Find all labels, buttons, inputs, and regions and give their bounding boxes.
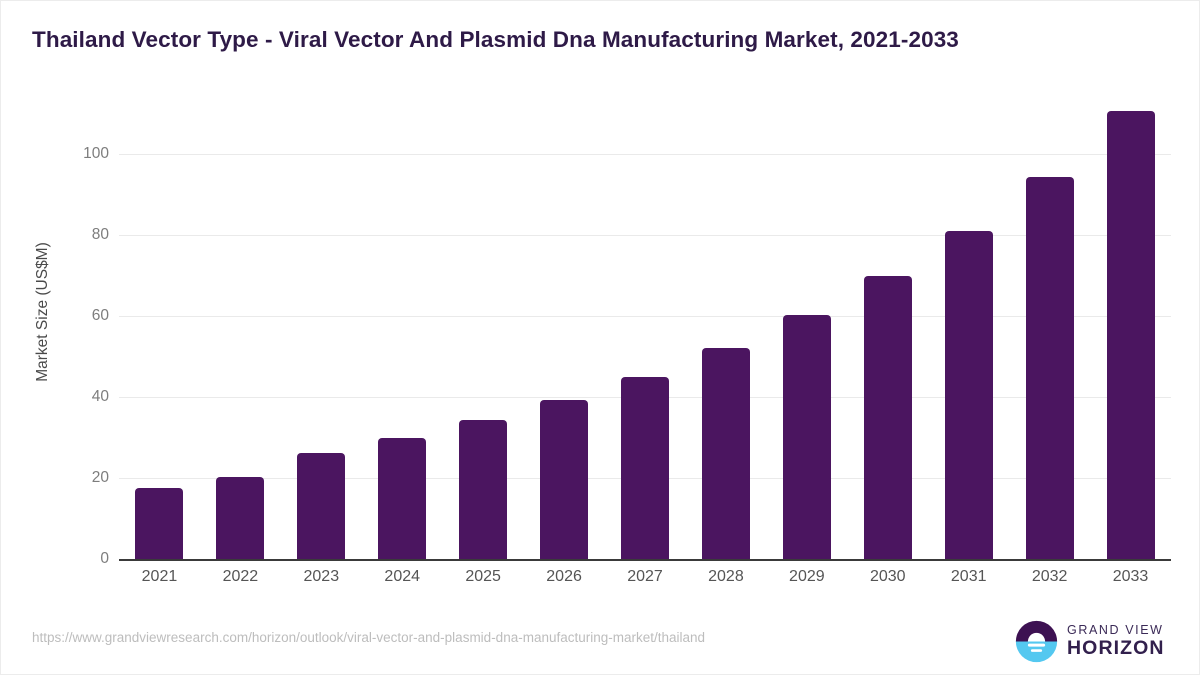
bar-2031[interactable] — [945, 231, 993, 559]
x-tick-label-2032: 2032 — [1005, 568, 1095, 586]
bar-2026[interactable] — [540, 400, 588, 559]
y-axis-title: Market Size (US$M) — [34, 197, 52, 427]
bar-2030[interactable] — [864, 276, 912, 560]
x-tick-label-2023: 2023 — [276, 568, 366, 586]
y-tick-label: 20 — [63, 469, 109, 487]
gridline — [119, 235, 1171, 236]
y-axis-tick-labels: 020406080100 — [63, 1, 109, 676]
chart-plot-area: Market Size (US$M) 020406080100 20212022… — [1, 1, 1200, 676]
x-tick-label-2028: 2028 — [681, 568, 771, 586]
bar-2025[interactable] — [459, 420, 507, 559]
y-tick-label: 0 — [63, 550, 109, 568]
x-tick-label-2024: 2024 — [357, 568, 447, 586]
brand-line-2: HORIZON — [1067, 639, 1165, 659]
gridline — [119, 154, 1171, 155]
gridline — [119, 316, 1171, 317]
source-url[interactable]: https://www.grandviewresearch.com/horizo… — [32, 630, 705, 645]
x-tick-label-2027: 2027 — [600, 568, 690, 586]
x-tick-label-2031: 2031 — [924, 568, 1014, 586]
bar-2021[interactable] — [135, 488, 183, 559]
bar-2024[interactable] — [378, 438, 426, 559]
y-tick-label: 100 — [63, 145, 109, 163]
y-tick-label: 40 — [63, 388, 109, 406]
bar-2033[interactable] — [1107, 111, 1155, 559]
brand-wordmark: GRAND VIEW HORIZON — [1067, 624, 1165, 659]
brand-logo[interactable]: GRAND VIEW HORIZON — [1015, 618, 1161, 664]
x-tick-label-2033: 2033 — [1086, 568, 1176, 586]
x-tick-label-2026: 2026 — [519, 568, 609, 586]
x-tick-label-2021: 2021 — [114, 568, 204, 586]
x-tick-label-2025: 2025 — [438, 568, 528, 586]
chart-page: Thailand Vector Type - Viral Vector And … — [0, 0, 1200, 675]
bar-2022[interactable] — [216, 477, 264, 559]
brand-line-1: GRAND VIEW — [1067, 624, 1165, 637]
y-tick-label: 60 — [63, 307, 109, 325]
x-tick-label-2029: 2029 — [762, 568, 852, 586]
bar-2028[interactable] — [702, 348, 750, 559]
y-tick-label: 80 — [63, 226, 109, 244]
horizon-circle-icon — [1015, 620, 1058, 663]
bar-2027[interactable] — [621, 377, 669, 559]
bar-2023[interactable] — [297, 453, 345, 559]
bar-2029[interactable] — [783, 315, 831, 559]
x-axis-baseline — [119, 559, 1171, 561]
x-tick-label-2030: 2030 — [843, 568, 933, 586]
x-tick-label-2022: 2022 — [195, 568, 285, 586]
bar-2032[interactable] — [1026, 177, 1074, 559]
